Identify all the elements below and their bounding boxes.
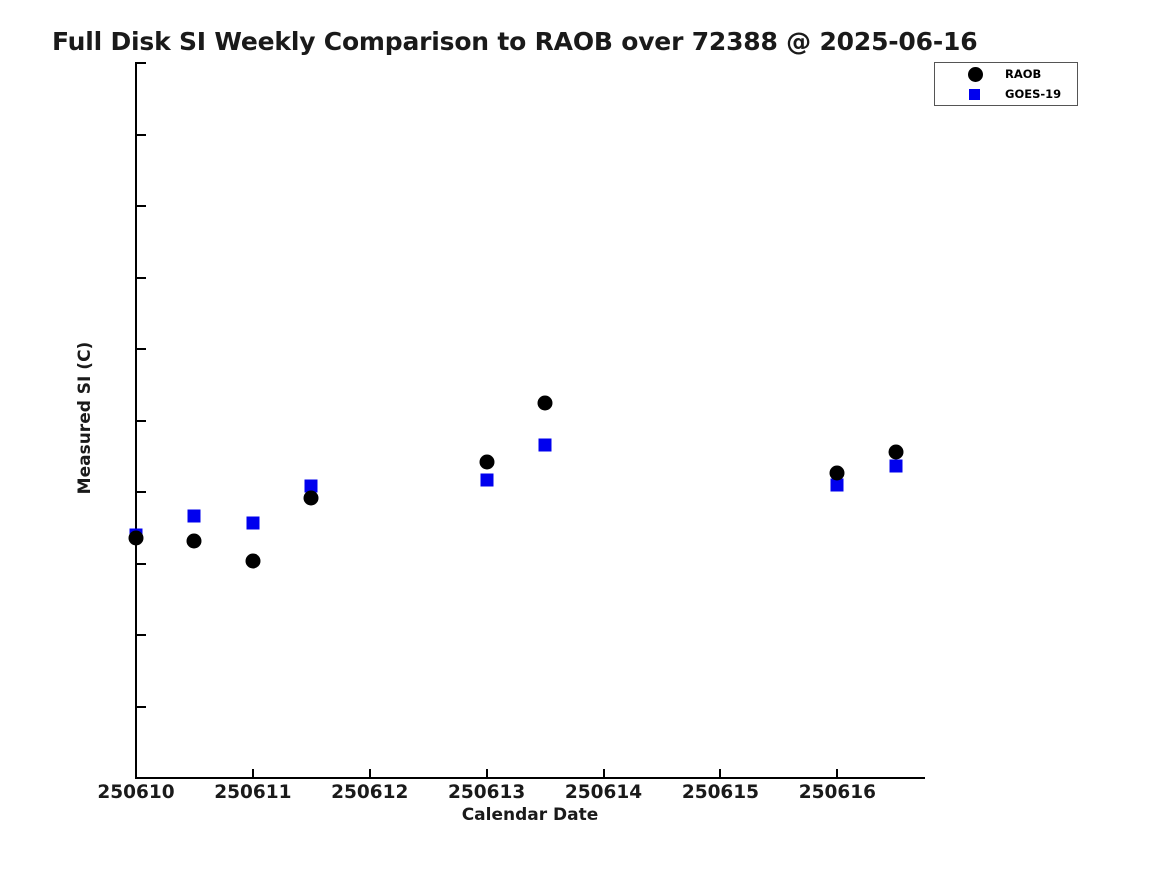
x-tick-label: 250614 [565,782,642,803]
y-tick-mark [137,563,146,565]
x-tick-mark [836,769,838,778]
data-point-goes-19 [889,460,902,473]
y-tick-mark [137,491,146,493]
x-tick-mark [252,769,254,778]
y-tick-mark [137,205,146,207]
y-tick-mark [137,134,146,136]
y-tick-mark [137,706,146,708]
data-point-raob [888,444,903,459]
data-point-raob [304,490,319,505]
y-tick-mark [137,62,146,64]
x-tick-label: 250610 [97,782,174,803]
data-point-goes-19 [480,473,493,486]
data-point-raob [187,533,202,548]
data-point-raob [538,396,553,411]
circle-marker-icon [960,64,990,85]
data-point-raob [129,530,144,545]
y-tick-mark [137,634,146,636]
data-point-raob [830,466,845,481]
legend-swatch [969,89,980,100]
figure-canvas: Full Disk SI Weekly Comparison to RAOB o… [0,0,1167,875]
y-axis-label: Measured SI (C) [75,318,95,518]
x-tick-label: 250612 [331,782,408,803]
x-tick-mark [719,769,721,778]
legend-swatch [968,67,983,82]
x-tick-mark [369,769,371,778]
data-point-raob [245,553,260,568]
y-tick-mark [137,348,146,350]
y-tick-mark [137,420,146,422]
x-tick-mark [486,769,488,778]
legend-item-raob: RAOB [935,64,1077,85]
x-axis-label: Calendar Date [0,805,1060,825]
data-point-raob [479,454,494,469]
x-tick-label: 250616 [799,782,876,803]
y-tick-mark [137,277,146,279]
x-tick-label: 250615 [682,782,759,803]
x-tick-label: 250613 [448,782,525,803]
y-tick-mark [137,777,146,779]
legend-label: RAOB [1005,67,1041,81]
legend-item-goes-19: GOES-19 [935,84,1077,105]
chart-title: Full Disk SI Weekly Comparison to RAOB o… [52,27,977,56]
x-tick-label: 250611 [214,782,291,803]
chart-legend: RAOBGOES-19 [934,62,1078,106]
x-tick-mark [135,769,137,778]
data-point-goes-19 [246,517,259,530]
legend-label: GOES-19 [1005,87,1061,101]
data-point-goes-19 [188,509,201,522]
x-tick-mark [603,769,605,778]
data-point-goes-19 [539,438,552,451]
square-marker-icon [960,84,990,105]
